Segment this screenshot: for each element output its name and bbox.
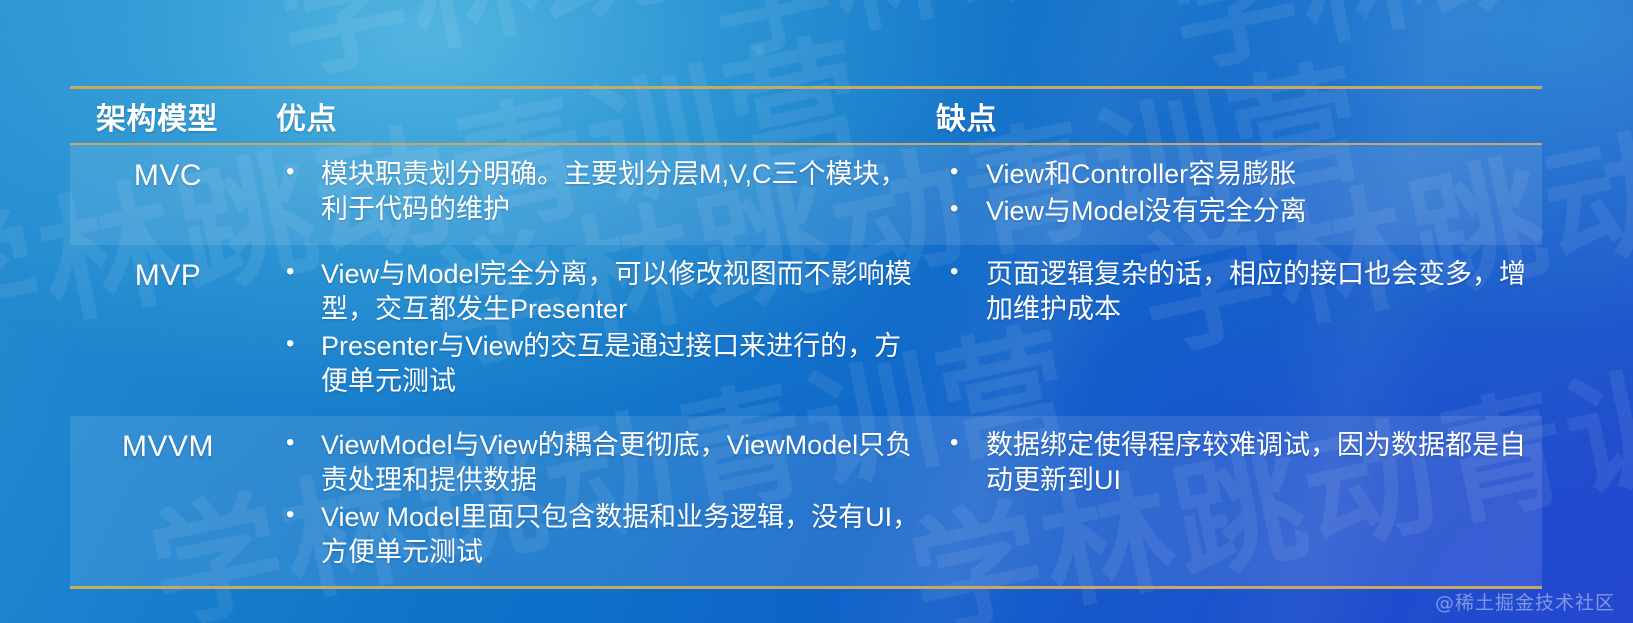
column-header-cons: 缺点 bbox=[928, 89, 1542, 143]
table-row: MVVM ViewModel与View的耦合更彻底，ViewModel只负责处理… bbox=[70, 416, 1542, 586]
bullet-item: View与Model完全分离，可以修改视图而不影响模型，交互都发生Present… bbox=[266, 257, 924, 327]
column-header-pros: 优点 bbox=[266, 89, 928, 143]
attribution-watermark: @稀土掘金技术社区 bbox=[1435, 588, 1615, 615]
cell-cons: View和Controller容易膨胀 View与Model没有完全分离 bbox=[928, 144, 1542, 245]
architecture-comparison-table: 架构模型 优点 缺点 MVC 模块职责划分明确。主要划分层M,V,C三个模块，利… bbox=[70, 86, 1542, 589]
cons-bullet-list: 页面逻辑复杂的话，相应的接口也会变多，增加维护成本 bbox=[928, 257, 1538, 327]
cell-pros: 模块职责划分明确。主要划分层M,V,C三个模块，利于代码的维护 bbox=[266, 144, 928, 245]
cell-cons: 数据绑定使得程序较难调试，因为数据都是自动更新到UI bbox=[928, 416, 1542, 586]
table: 架构模型 优点 缺点 MVC 模块职责划分明确。主要划分层M,V,C三个模块，利… bbox=[70, 89, 1542, 586]
bullet-item: 页面逻辑复杂的话，相应的接口也会变多，增加维护成本 bbox=[928, 257, 1538, 327]
cell-model-name: MVP bbox=[70, 245, 266, 415]
cell-model-name: MVC bbox=[70, 144, 266, 245]
cons-bullet-list: View和Controller容易膨胀 View与Model没有完全分离 bbox=[928, 157, 1538, 229]
table-header: 架构模型 优点 缺点 bbox=[70, 89, 1542, 144]
pros-bullet-list: ViewModel与View的耦合更彻底，ViewModel只负责处理和提供数据… bbox=[266, 428, 924, 570]
cell-cons: 页面逻辑复杂的话，相应的接口也会变多，增加维护成本 bbox=[928, 245, 1542, 415]
table-row: MVP View与Model完全分离，可以修改视图而不影响模型，交互都发生Pre… bbox=[70, 245, 1542, 415]
table-body: MVC 模块职责划分明确。主要划分层M,V,C三个模块，利于代码的维护 View… bbox=[70, 144, 1542, 586]
column-header-model: 架构模型 bbox=[70, 89, 266, 143]
bullet-item: View Model里面只包含数据和业务逻辑，没有UI，方便单元测试 bbox=[266, 500, 924, 570]
cell-pros: ViewModel与View的耦合更彻底，ViewModel只负责处理和提供数据… bbox=[266, 416, 928, 586]
cell-pros: View与Model完全分离，可以修改视图而不影响模型，交互都发生Present… bbox=[266, 245, 928, 415]
pros-bullet-list: 模块职责划分明确。主要划分层M,V,C三个模块，利于代码的维护 bbox=[266, 157, 924, 227]
pros-bullet-list: View与Model完全分离，可以修改视图而不影响模型，交互都发生Present… bbox=[266, 257, 924, 399]
bullet-item: View与Model没有完全分离 bbox=[928, 194, 1538, 229]
table-row: MVC 模块职责划分明确。主要划分层M,V,C三个模块，利于代码的维护 View… bbox=[70, 144, 1542, 245]
bullet-item: 模块职责划分明确。主要划分层M,V,C三个模块，利于代码的维护 bbox=[266, 157, 924, 227]
bullet-item: View和Controller容易膨胀 bbox=[928, 157, 1538, 192]
table-header-row: 架构模型 优点 缺点 bbox=[70, 89, 1542, 143]
cons-bullet-list: 数据绑定使得程序较难调试，因为数据都是自动更新到UI bbox=[928, 428, 1538, 498]
bullet-item: 数据绑定使得程序较难调试，因为数据都是自动更新到UI bbox=[928, 428, 1538, 498]
bullet-item: Presenter与View的交互是通过接口来进行的，方便单元测试 bbox=[266, 329, 924, 399]
bullet-item: ViewModel与View的耦合更彻底，ViewModel只负责处理和提供数据 bbox=[266, 428, 924, 498]
cell-model-name: MVVM bbox=[70, 416, 266, 586]
